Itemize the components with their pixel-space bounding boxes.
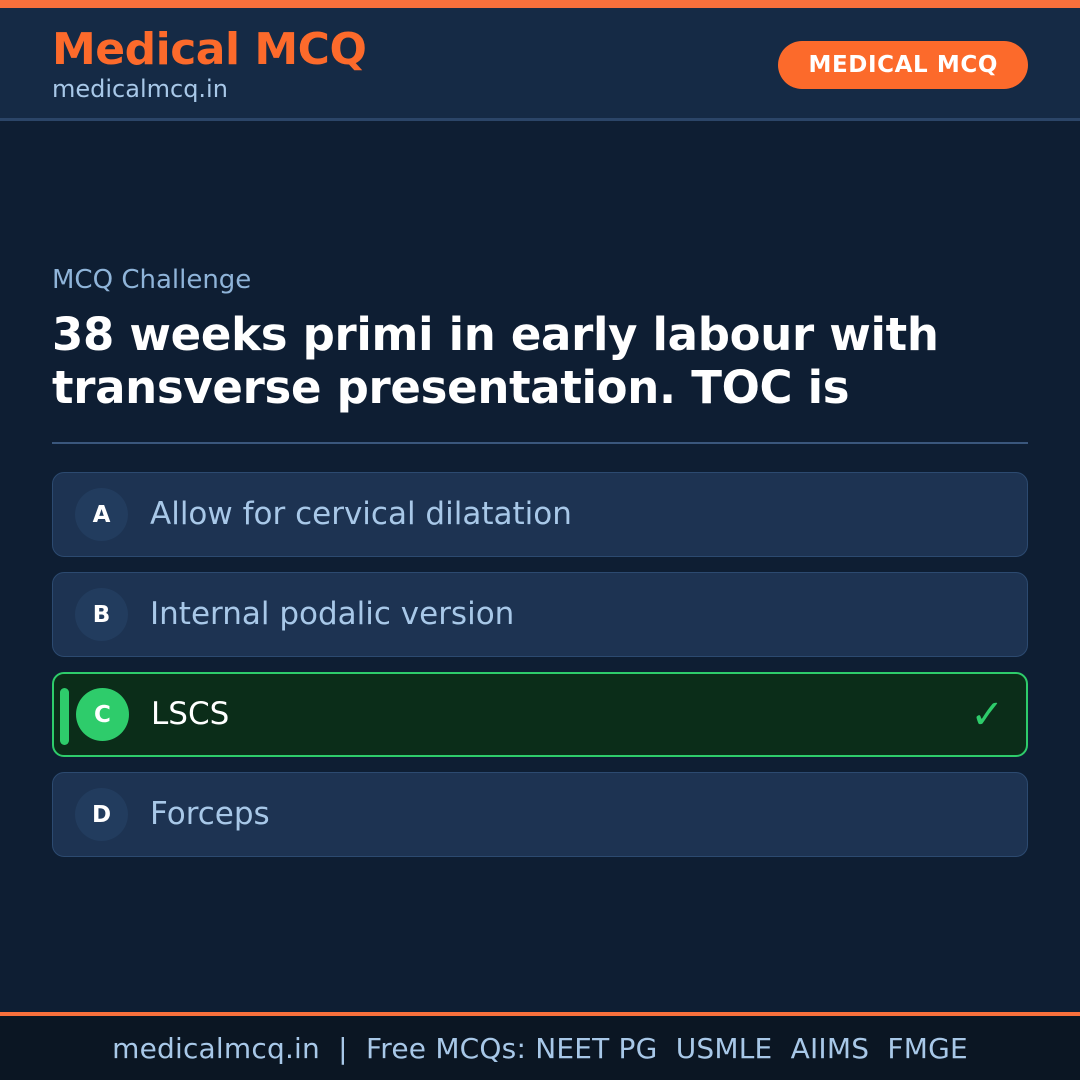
top-accent-bar xyxy=(0,0,1080,8)
option-letter-badge: D xyxy=(75,788,128,841)
question-text: 38 weeks primi in early labour with tran… xyxy=(52,308,952,414)
option-label: Allow for cervical dilatation xyxy=(150,496,572,533)
correct-accent-bar xyxy=(60,688,69,745)
options-list: A Allow for cervical dilatation B Intern… xyxy=(52,472,1028,857)
brand-title: Medical MCQ xyxy=(52,27,366,73)
header: Medical MCQ medicalmcq.in MEDICAL MCQ xyxy=(0,8,1080,121)
check-icon: ✓ xyxy=(970,695,1004,735)
question-divider xyxy=(52,442,1028,444)
option-label: Internal podalic version xyxy=(150,596,514,633)
option-letter-badge: A xyxy=(75,488,128,541)
question-block: MCQ Challenge 38 weeks primi in early la… xyxy=(52,265,1028,414)
option-letter-badge: C xyxy=(76,688,129,741)
main-content: MCQ Challenge 38 weeks primi in early la… xyxy=(0,121,1080,1012)
option-c[interactable]: C LSCS ✓ xyxy=(52,672,1028,757)
option-d[interactable]: D Forceps xyxy=(52,772,1028,857)
option-letter-badge: B xyxy=(75,588,128,641)
mcq-card: Medical MCQ medicalmcq.in MEDICAL MCQ MC… xyxy=(0,0,1080,1080)
option-label: Forceps xyxy=(150,796,270,833)
option-a[interactable]: A Allow for cervical dilatation xyxy=(52,472,1028,557)
header-badge: MEDICAL MCQ xyxy=(778,41,1028,89)
brand: Medical MCQ medicalmcq.in xyxy=(52,27,366,103)
option-b[interactable]: B Internal podalic version xyxy=(52,572,1028,657)
brand-subtitle: medicalmcq.in xyxy=(52,76,366,102)
option-label: LSCS xyxy=(151,696,229,733)
eyebrow-label: MCQ Challenge xyxy=(52,265,1028,296)
footer-text: medicalmcq.in | Free MCQs: NEET PG USMLE… xyxy=(112,1032,968,1065)
footer: medicalmcq.in | Free MCQs: NEET PG USMLE… xyxy=(0,1012,1080,1080)
